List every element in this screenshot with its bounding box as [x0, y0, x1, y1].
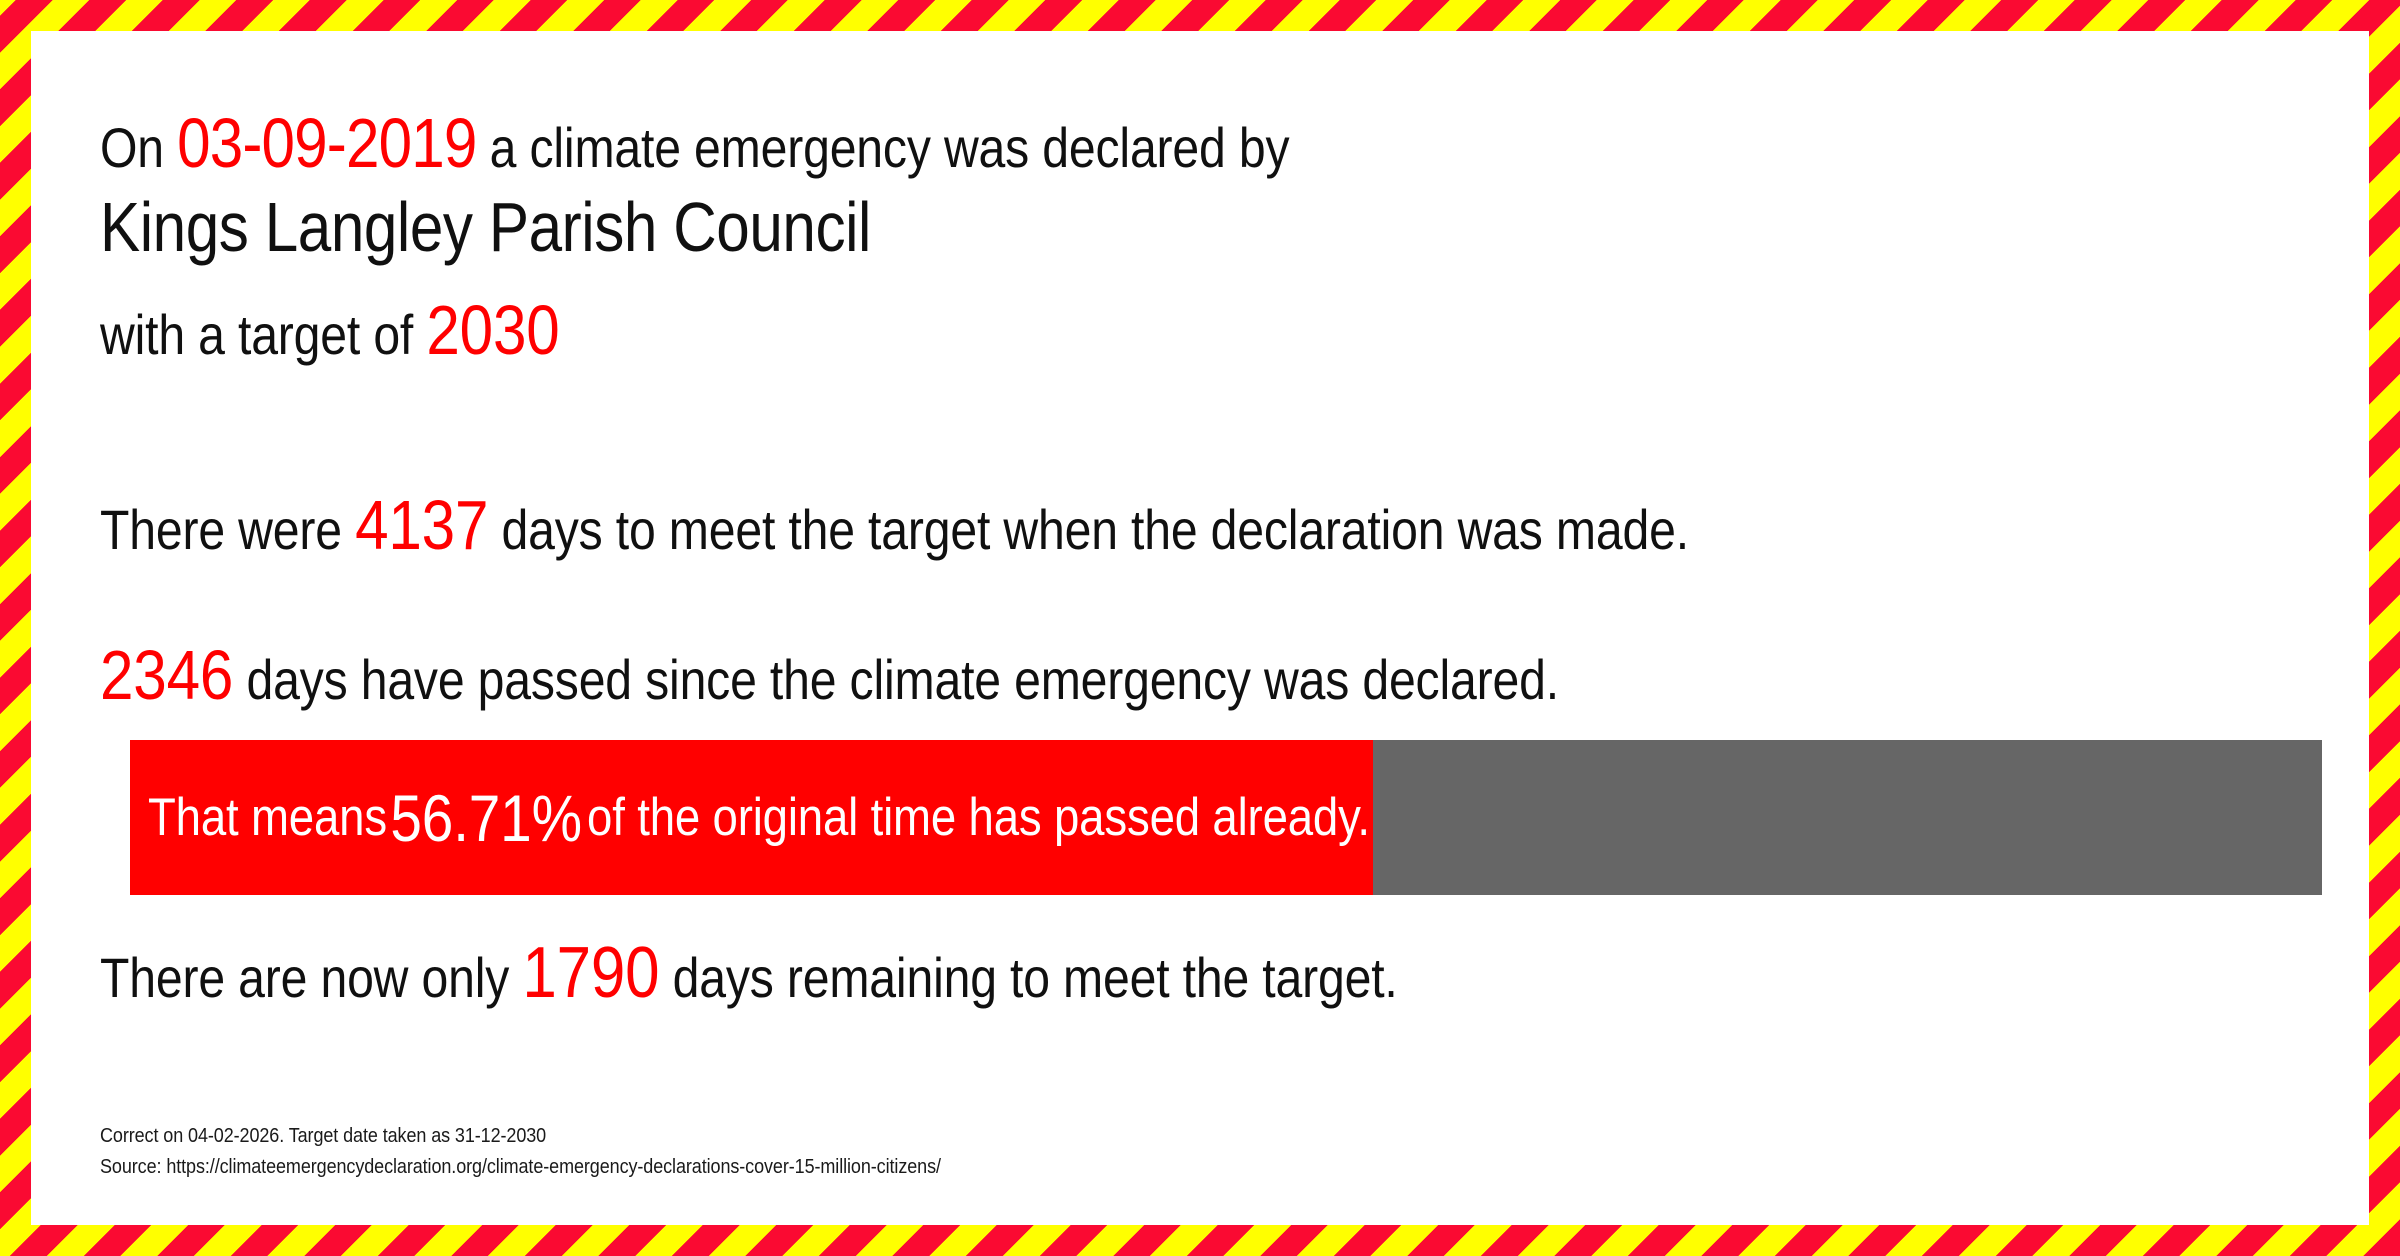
progress-percent-label: 56.71%	[387, 780, 587, 856]
original-days-value: 4137	[355, 486, 488, 564]
target-year: 2030	[426, 291, 559, 369]
original-days-line: There were 4137 days to meet the target …	[100, 485, 1689, 565]
days-remaining-prefix: There are now only	[100, 946, 522, 1009]
declaration-suffix: a climate emergency was declared by	[476, 116, 1289, 179]
original-days-suffix: days to meet the target when the declara…	[488, 498, 1689, 561]
days-remaining-line: There are now only 1790 days remaining t…	[100, 932, 1398, 1014]
days-passed-suffix: days have passed since the climate emerg…	[233, 648, 1559, 711]
original-days-prefix: There were	[100, 498, 355, 561]
progress-caption-suffix: of the original time has passed already.	[587, 787, 1370, 848]
footnotes: Correct on 04-02-2026. Target date taken…	[100, 1121, 941, 1183]
info-card: On 03-09-2019 a climate emergency was de…	[31, 31, 2369, 1225]
hazard-frame: On 03-09-2019 a climate emergency was de…	[0, 0, 2400, 1256]
progress-caption: That means 56.71% of the original time h…	[148, 740, 1370, 895]
days-passed-line: 2346 days have passed since the climate …	[100, 635, 1559, 715]
target-year-line: with a target of 2030	[100, 290, 560, 370]
target-prefix: with a target of	[100, 303, 426, 366]
declaration-prefix: On	[100, 116, 177, 179]
time-elapsed-progress-bar: That means 56.71% of the original time h…	[130, 740, 2322, 895]
declaration-date-line: On 03-09-2019 a climate emergency was de…	[100, 103, 1289, 183]
card-content: On 03-09-2019 a climate emergency was de…	[100, 31, 2329, 1225]
days-remaining-suffix: days remaining to meet the target.	[659, 946, 1397, 1009]
days-remaining-value: 1790	[522, 933, 659, 1013]
footnote-source[interactable]: Source: https://climateemergencydeclarat…	[100, 1152, 941, 1183]
declaration-date: 03-09-2019	[177, 104, 476, 182]
days-passed-value: 2346	[100, 636, 233, 714]
progress-caption-prefix: That means	[148, 787, 387, 848]
footnote-correct-on: Correct on 04-02-2026. Target date taken…	[100, 1121, 941, 1152]
council-name: Kings Langley Parish Council	[100, 187, 871, 267]
